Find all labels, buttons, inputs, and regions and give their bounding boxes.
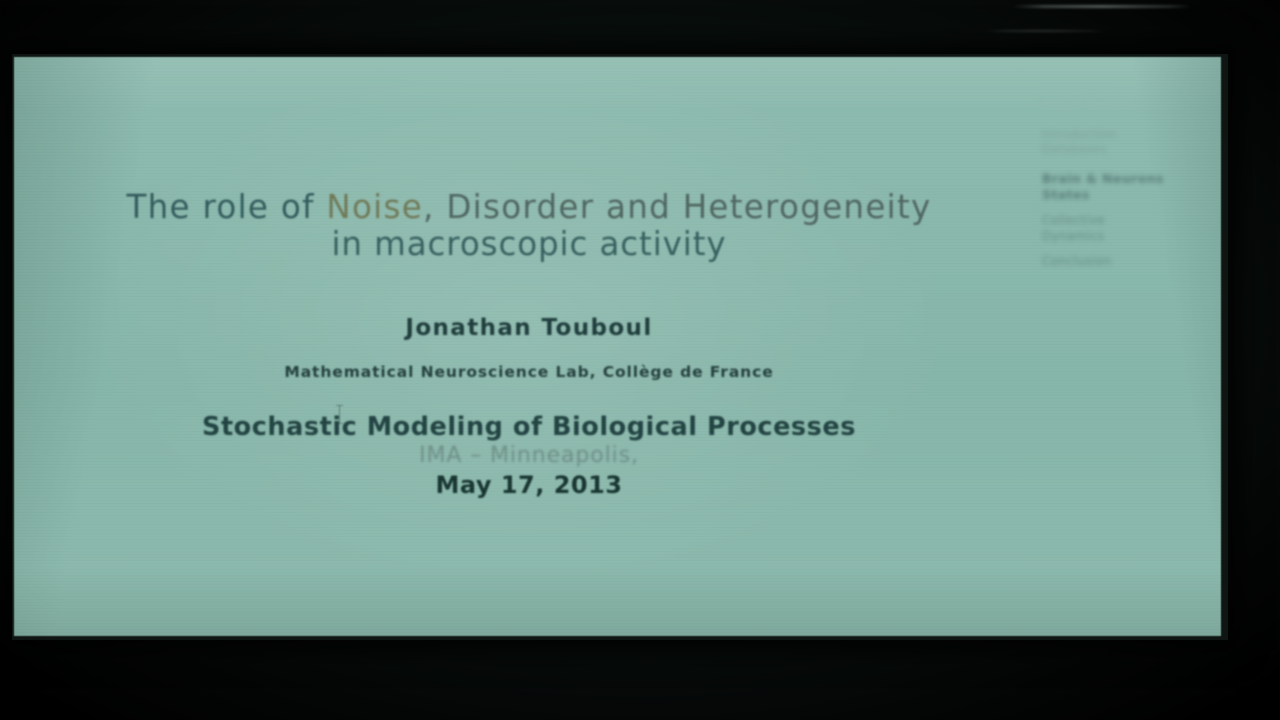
sidebar-item-introduction-top[interactable]: Introduction xyxy=(1042,83,1220,98)
title-word-heterogeneity: Heterogeneity xyxy=(683,188,932,226)
light-streak-reflection-lower xyxy=(985,30,1105,32)
dark-room-background: The role of Noise, Disorder and Heteroge… xyxy=(0,0,1280,720)
nav-group-second: Introduction Databases xyxy=(1042,127,1220,156)
author-name: Jonathan Touboul xyxy=(14,315,1044,341)
presentation-slide: The role of Noise, Disorder and Heteroge… xyxy=(14,57,1221,636)
presentation-date: May 17, 2013 xyxy=(14,471,1044,499)
nav-group-current: Brain & Neurons States xyxy=(1042,171,1220,203)
title-word-disorder: Disorder xyxy=(446,188,594,226)
nav-spacer-3 xyxy=(1042,206,1220,213)
slide-title: The role of Noise, Disorder and Heteroge… xyxy=(14,189,1044,263)
title-word-noise: Noise xyxy=(326,188,423,226)
nav-group-top: Introduction Neural network models xyxy=(1042,83,1220,112)
sidebar-item-databases[interactable]: Databases xyxy=(1042,142,1220,157)
light-streak-reflection-upper xyxy=(1012,5,1192,8)
title-word-the-role-of: The role of xyxy=(126,188,326,226)
sidebar-item-network-models[interactable]: Neural network models xyxy=(1042,98,1220,113)
conference-location: IMA – Minneapolis, xyxy=(14,443,1044,468)
author-affiliation: Mathematical Neuroscience Lab, Collège d… xyxy=(14,363,1044,381)
nav-spacer-1 xyxy=(1042,115,1220,127)
nav-spacer-4 xyxy=(1042,247,1220,254)
sidebar-item-dynamics[interactable]: Dynamics xyxy=(1042,229,1220,245)
sidebar-item-brain-and-neurons[interactable]: Brain & Neurons xyxy=(1042,171,1220,187)
beamer-sidebar-navigation[interactable]: Introduction Neural network models Intro… xyxy=(1042,83,1220,273)
nav-group-collective: Collective Dynamics xyxy=(1042,213,1220,244)
sidebar-item-introduction[interactable]: Introduction xyxy=(1042,127,1220,142)
projector-screen-frame: The role of Noise, Disorder and Heteroge… xyxy=(12,54,1228,640)
projector-screen: The role of Noise, Disorder and Heteroge… xyxy=(14,57,1221,636)
nav-group-conclusion: Conclusion xyxy=(1042,254,1220,270)
sidebar-item-conclusion[interactable]: Conclusion xyxy=(1042,254,1220,270)
title-word-and: and xyxy=(594,188,682,226)
sidebar-item-states[interactable]: States xyxy=(1042,187,1220,203)
title-comma: , xyxy=(423,188,446,226)
sidebar-item-collective[interactable]: Collective xyxy=(1042,213,1220,229)
nav-spacer-2 xyxy=(1042,159,1220,171)
conference-name: Stochastic Modeling of Biological Proces… xyxy=(14,412,1044,442)
slide-subtitle-line: in macroscopic activity xyxy=(14,226,1044,263)
text-caret-artifact xyxy=(339,405,340,424)
